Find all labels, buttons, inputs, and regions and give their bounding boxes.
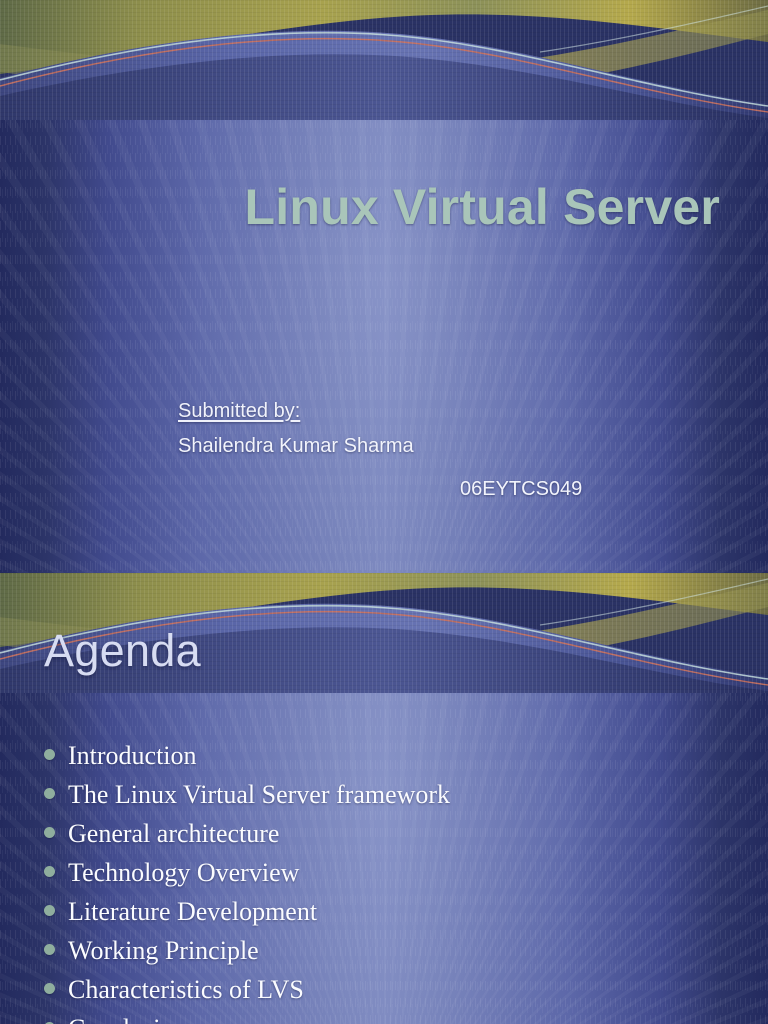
list-item: The Linux Virtual Server framework [44,775,744,814]
list-item-label: Characteristics of LVS [68,970,304,1009]
page-title: Linux Virtual Server [0,178,720,236]
agenda-list: IntroductionThe Linux Virtual Server fra… [44,736,744,1024]
list-item: Technology Overview [44,853,744,892]
list-item-label: Introduction [68,736,197,775]
bullet-dot-icon [44,983,55,994]
slide-title: Linux Virtual Server Submitted by: Shail… [0,0,768,573]
list-item-label: The Linux Virtual Server framework [68,775,450,814]
list-item-label: Technology Overview [68,853,299,892]
submitted-by-label: Submitted by: [178,400,698,423]
bullet-dot-icon [44,944,55,955]
submitted-by-block: Submitted by: Shailendra Kumar Sharma 06… [178,400,698,501]
bullet-dot-icon [44,749,55,760]
author-name: Shailendra Kumar Sharma [178,435,698,458]
list-item-label: Conclusion [68,1009,186,1024]
roll-number: 06EYTCS049 [178,478,698,501]
list-item: Conclusion [44,1009,744,1024]
agenda-heading: Agenda [44,625,201,677]
list-item: Introduction [44,736,744,775]
list-item: Working Principle [44,931,744,970]
list-item: General architecture [44,814,744,853]
list-item: Characteristics of LVS [44,970,744,1009]
list-item-label: Literature Development [68,892,317,931]
bullet-dot-icon [44,905,55,916]
bullet-dot-icon [44,827,55,838]
bullet-dot-icon [44,866,55,877]
wave-decoration [0,0,768,120]
list-item-label: Working Principle [68,931,259,970]
list-item-label: General architecture [68,814,279,853]
presentation-deck: Linux Virtual Server Submitted by: Shail… [0,0,768,1024]
bullet-dot-icon [44,788,55,799]
list-item: Literature Development [44,892,744,931]
